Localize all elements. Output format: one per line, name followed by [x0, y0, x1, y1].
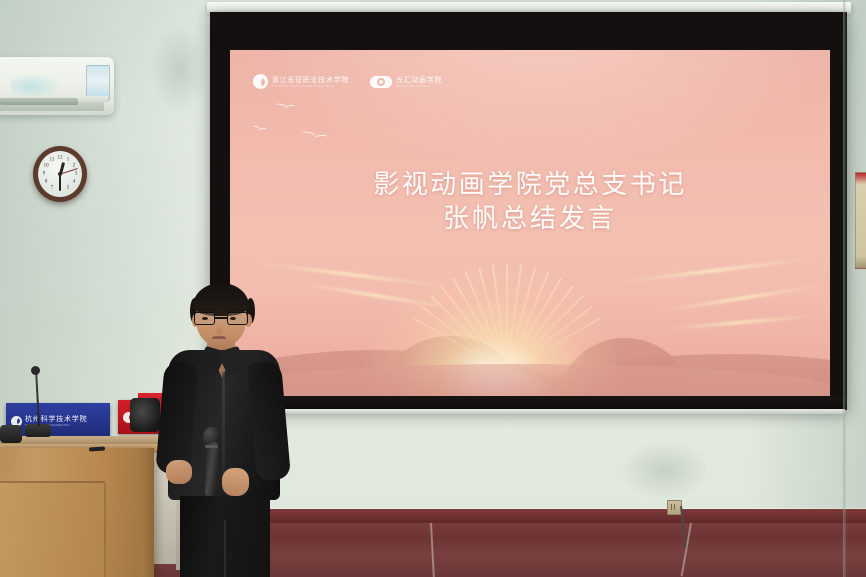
slide-title-line-2: 张帆总结发言 — [230, 202, 830, 236]
lecture-hall-screenshot: 浙江长征职业技术学院 ZHEJIANG CHANGZHENG VOCATIONA… — [0, 0, 866, 577]
clock-numeral: 12 — [58, 156, 63, 161]
clock-numeral: 9 — [43, 172, 46, 177]
eyebrow — [198, 308, 216, 311]
wall-stain — [150, 24, 210, 114]
lectern-front-panel — [0, 481, 106, 577]
eyebrow — [226, 308, 244, 311]
clock-numeral: 3 — [75, 172, 78, 177]
clock-center-pin — [58, 172, 62, 176]
slide-logo-primary-en: ZHEJIANG CHANGZHENG VOCATIONAL — [272, 85, 349, 88]
screen-bottom-rail — [211, 409, 845, 414]
eye — [230, 317, 236, 320]
lectern — [0, 448, 154, 577]
eye — [202, 317, 208, 320]
clock-numeral: 11 — [50, 158, 55, 163]
light-streak — [660, 314, 820, 331]
slide-logo-secondary: 光汇动画学院 ANIMATION COLLEGE — [370, 76, 442, 88]
swirl-logo-icon — [253, 74, 268, 89]
clock-numeral: 1 — [67, 158, 70, 163]
clock-numeral: 8 — [45, 180, 48, 185]
door-frame-edge — [843, 0, 847, 577]
slide-logo-secondary-text: 光汇动画学院 ANIMATION COLLEGE — [396, 76, 442, 88]
ac-pipe-cover — [0, 98, 78, 105]
slide-logo-row: 浙江长征职业技术学院 ZHEJIANG CHANGZHENG VOCATIONA… — [253, 74, 442, 89]
hand-right — [222, 468, 249, 496]
desk-equipment — [0, 425, 22, 443]
nameplate-blue-cn: 杭州科学技术学院 — [25, 415, 87, 423]
wall-clock: 121234567891011 — [33, 146, 87, 202]
trouser-seam — [224, 520, 226, 577]
clock-minute-hand — [59, 174, 61, 191]
slide-title-line-1: 影视动画学院党总支书记 — [230, 168, 830, 202]
desk-microphone-head — [31, 366, 40, 375]
light-streak — [651, 283, 829, 314]
clock-numeral: 4 — [73, 180, 76, 185]
clock-numeral: 5 — [67, 185, 70, 190]
camera-equipment — [130, 398, 160, 432]
wall-stain — [620, 440, 710, 500]
presenter — [160, 284, 290, 577]
wall-poster — [855, 172, 866, 269]
microphone-ring — [205, 445, 218, 448]
presentation-slide: 浙江长征职业技术学院 ZHEJIANG CHANGZHENG VOCATIONA… — [230, 50, 830, 398]
lectern-side — [140, 448, 154, 577]
nose — [216, 324, 223, 335]
hand-left — [166, 460, 192, 484]
slide-logo-primary-cn: 浙江长征职业技术学院 — [272, 76, 349, 84]
slide-logo-primary-text: 浙江长征职业技术学院 ZHEJIANG CHANGZHENG VOCATIONA… — [272, 76, 349, 88]
air-conditioner — [0, 57, 114, 115]
slide-logo-primary: 浙江长征职业技术学院 ZHEJIANG CHANGZHENG VOCATIONA… — [253, 74, 349, 89]
glasses-bridge — [215, 317, 227, 319]
slide-logo-secondary-cn: 光汇动画学院 — [396, 76, 442, 84]
ring-logo-icon — [370, 76, 392, 88]
clock-numeral: 7 — [51, 185, 54, 190]
slide-logo-secondary-en: ANIMATION COLLEGE — [396, 85, 442, 88]
slide-title: 影视动画学院党总支书记 张帆总结发言 — [230, 168, 830, 236]
screen-bottom-bar — [210, 396, 847, 410]
clock-numeral: 10 — [44, 164, 49, 169]
